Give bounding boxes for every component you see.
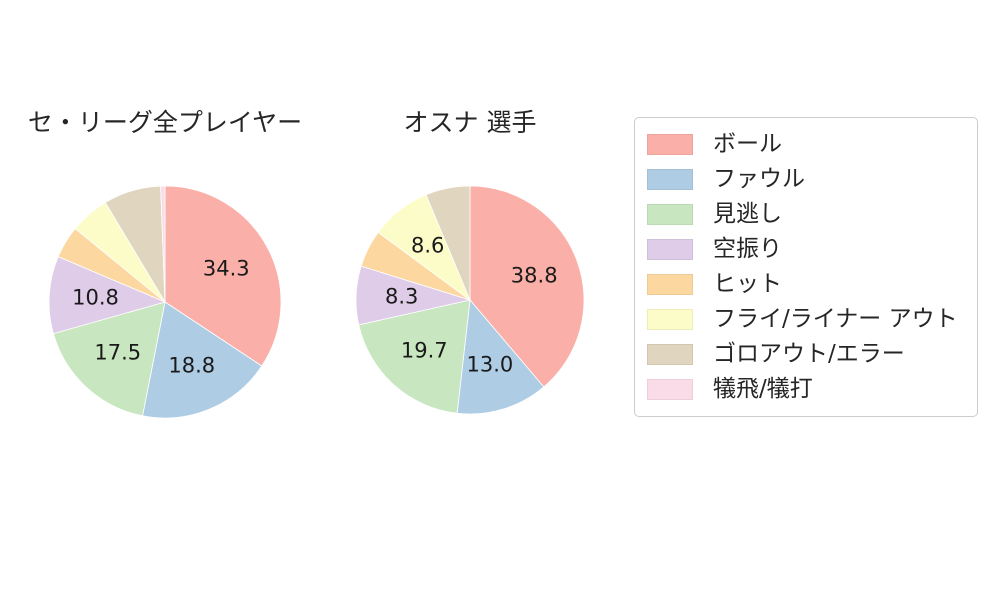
legend-label-called-strike: 見逃し [713,203,782,226]
chart-legend: ボールファウル見逃し空振りヒットフライ/ライナー アウトゴロアウト/エラー犠飛/… [634,117,978,417]
chart-panel-left: セ・リーグ全プレイヤー 34.3 18.8 17.5 10.8 [10,110,320,418]
legend-swatch-ground-out-error [647,344,693,365]
legend-item-called-strike[interactable]: 見逃し [647,197,965,232]
pie-right: 38.8 13.0 19.7 8.3 8.6 [356,186,584,414]
chart-title-right: オスナ 選手 [330,110,610,144]
chart-panel-right: オスナ 選手 38.8 13.0 19.7 8.3 8.6 [330,110,610,414]
pie-left-svg [49,186,281,418]
legend-swatch-foul [647,169,693,190]
legend-item-foul[interactable]: ファウル [647,162,965,197]
pie-left: 34.3 18.8 17.5 10.8 [49,186,281,418]
legend-item-swing-miss[interactable]: 空振り [647,232,965,267]
legend-swatch-ball [647,134,693,155]
legend-label-ball: ボール [713,133,782,156]
legend-item-ground-out-error[interactable]: ゴロアウト/エラー [647,337,965,372]
legend-item-hit[interactable]: ヒット [647,267,965,302]
legend-label-ground-out-error: ゴロアウト/エラー [713,343,905,366]
legend-label-sacrifice: 犠飛/犠打 [713,378,813,401]
legend-item-ball[interactable]: ボール [647,127,965,162]
legend-label-foul: ファウル [713,168,805,191]
chart-title-left: セ・リーグ全プレイヤー [10,110,320,144]
legend-swatch-sacrifice [647,379,693,400]
legend-swatch-swing-miss [647,239,693,260]
pie-right-svg [356,186,584,414]
pie-chart-figure: セ・リーグ全プレイヤー 34.3 18.8 17.5 10.8 オスナ 選手 3… [0,0,1000,600]
legend-swatch-hit [647,274,693,295]
legend-item-fly-liner-out[interactable]: フライ/ライナー アウト [647,302,965,337]
legend-swatch-called-strike [647,204,693,225]
legend-item-sacrifice[interactable]: 犠飛/犠打 [647,372,965,407]
legend-label-fly-liner-out: フライ/ライナー アウト [713,308,958,331]
legend-label-swing-miss: 空振り [713,238,782,261]
legend-label-hit: ヒット [713,273,782,296]
legend-swatch-fly-liner-out [647,309,693,330]
